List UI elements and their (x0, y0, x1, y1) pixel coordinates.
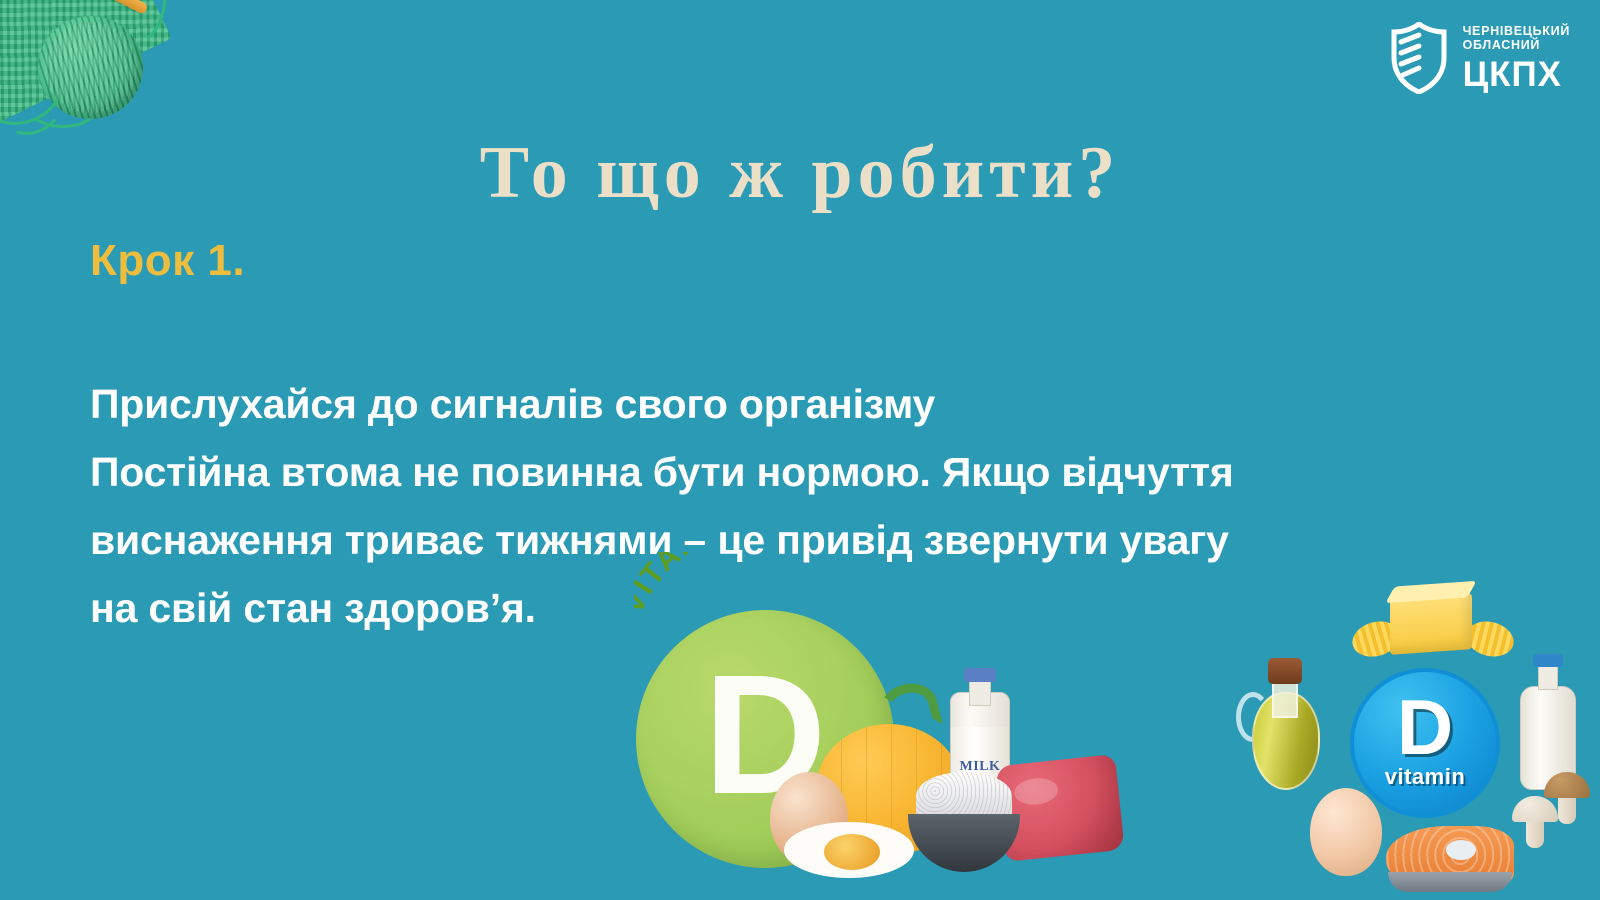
letter-d: D (1397, 692, 1453, 762)
vitamin-d-blue-circle: D vitamin (1350, 668, 1500, 818)
oil-bottle-cork (1268, 658, 1302, 684)
milk-bottle-cap (1533, 654, 1563, 667)
salmon-bone (1446, 840, 1476, 860)
logo-acronym: ЦКПХ (1463, 57, 1570, 92)
milk-bottle-cap (964, 668, 996, 682)
vitamin-d-center-illustration: VITAMIN D MILK (620, 548, 1120, 900)
rice-heap-icon (916, 772, 1012, 820)
mushroom-stem (1558, 798, 1576, 824)
milk-bottle-neck (1538, 664, 1558, 690)
oil-bottle-icon (1242, 650, 1324, 790)
milk-bottle-icon (1520, 654, 1576, 790)
vitamin-arc-text: VITAMIN (634, 552, 741, 619)
egg-yolk-icon (824, 834, 880, 870)
oil-bottle-neck (1272, 678, 1298, 718)
body-line: Прислухайся до сигналів свого організму (90, 370, 1430, 438)
egg-icon (1310, 788, 1382, 876)
salmon-skin (1388, 872, 1512, 892)
mushroom-stem (1526, 822, 1544, 848)
bowl-icon (908, 814, 1020, 872)
mushroom-cap (1512, 796, 1558, 822)
vitamin-d-right-illustration: D vitamin (1232, 572, 1600, 900)
mushroom-icon (1512, 796, 1558, 848)
vitamin-caption: vitamin (1385, 764, 1466, 790)
mushroom-cap (1544, 772, 1590, 798)
slide-canvas: ЧЕРНІВЕЦЬКИЙ ОБЛАСНИЙ ЦКПХ То що ж робит… (0, 0, 1600, 900)
body-line: Постійна втома не повинна бути нормою. Я… (90, 438, 1430, 506)
logo-line-1: ЧЕРНІВЕЦЬКИЙ (1463, 25, 1570, 38)
logo-line-2: ОБЛАСНИЙ (1463, 39, 1570, 52)
step-label: Крок 1. (90, 236, 245, 286)
page-title: То що ж робити? (0, 131, 1600, 216)
meat-icon (995, 754, 1124, 862)
shield-icon (1389, 22, 1449, 94)
milk-bottle-neck (969, 680, 991, 706)
butter-block-icon (1390, 593, 1472, 655)
organization-logo: ЧЕРНІВЕЦЬКИЙ ОБЛАСНИЙ ЦКПХ (1389, 22, 1570, 94)
